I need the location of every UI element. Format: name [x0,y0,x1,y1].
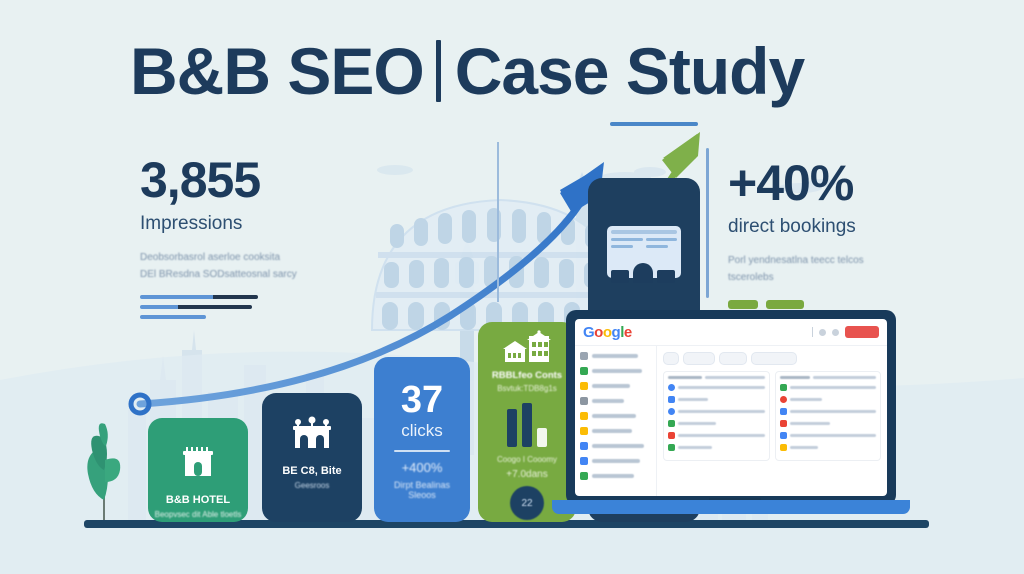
laptop-base [552,500,910,514]
column-subtitle: Beopvsec dit Able tloetls [148,510,248,519]
website-card-icon [607,226,681,278]
title-left: B&B SEO [130,38,424,104]
browser-main [657,346,887,496]
stat-impressions: 3,855 Impressions Deobsorbasrol aserloe … [140,155,297,325]
table-row [780,420,877,427]
impressions-value: 3,855 [140,155,297,205]
browser-body [575,346,887,496]
table-row [668,420,765,427]
title-right: Case Study [455,38,804,104]
laptop-lid: Google [566,310,896,505]
data-panel-right[interactable] [775,371,882,461]
table-row [668,396,765,403]
right-vertical-rule [706,148,709,298]
browser-header-actions [812,326,879,338]
impressions-blurb: Deobsorbasrol aserloe cooksita DEl BResd… [140,249,297,283]
clicks-value: 37 [374,381,470,419]
mini-bar [522,403,532,447]
browser-sidebar[interactable] [575,346,657,496]
sidebar-item [580,442,651,450]
clicks-sub-line2: Sleoos [374,490,470,500]
column-title: B&B HOTEL [148,494,248,506]
column-bnb-hotel[interactable]: B&B HOTEL Beopvsec dit Able tloetls [148,418,248,522]
sidebar-item [580,352,651,360]
clicks-sub-value: +400% [374,460,470,475]
sidebar-item [580,397,651,405]
filter-chip [751,352,797,365]
help-icon[interactable] [832,329,839,336]
bookings-label: direct bookings [728,216,864,238]
accent-pill [728,300,758,309]
mini-bar [537,428,547,447]
progress-bar [140,305,252,309]
bookings-value: +40% [728,158,864,208]
data-panel-left[interactable] [663,371,770,461]
impressions-label: Impressions [140,213,297,235]
table-row [780,444,877,451]
laptop-mockup: Google [566,310,896,528]
table-row [780,384,877,391]
browser-window[interactable]: Google [575,319,887,496]
hotel-building-icon [148,442,248,482]
plant-icon [78,412,130,524]
impressions-blurb-line1: Deobsorbasrol aserloe cooksita [140,249,297,266]
filter-chip [663,352,679,365]
column-google-company[interactable]: RBBLfeo Conts Bsvtuk:TDB8g1s Coogo I Coo… [478,322,576,522]
progress-bar [140,295,258,299]
clicks-sub-line1: Dirpt Bealinas [374,480,470,490]
origin-dot [131,395,149,413]
gear-icon[interactable] [819,329,826,336]
table-row [668,384,765,391]
mini-chart-value: +7.0dans [478,469,576,480]
filter-chip [719,352,747,365]
table-row [780,408,877,415]
infographic-canvas: B&B SEO Case Study 3,855 Impressions Deo… [0,0,1024,574]
panel-header [668,376,765,379]
impressions-progress-bars [140,295,297,319]
page-title: B&B SEO Case Study [130,38,804,104]
column-clicks[interactable]: 37 clicks +400% Dirpt Bealinas Sleoos [374,357,470,522]
panel-header [780,376,877,379]
sidebar-item [580,457,651,465]
bookings-blurb: Porl yendnesatlna teecc telcos tsceroleb… [728,252,864,286]
column-bnb-site[interactable]: BE C8, Bite Geesroos [262,393,362,522]
mini-bar-chart [478,403,576,447]
bookings-blurb-line2: tscerolebs [728,269,864,286]
filter-chips[interactable] [663,352,881,365]
browser-header: Google [575,319,887,346]
sidebar-item [580,427,651,435]
sidebar-item [580,382,651,390]
column-title: RBBLfeo Conts [478,370,576,381]
city-buildings-icon [478,330,576,364]
divider [394,450,450,452]
clicks-label: clicks [374,421,470,441]
mini-chart-label: Coogo I Cooomy [478,455,576,464]
monument-arch-icon [262,415,362,451]
stat-direct-bookings: +40% direct bookings Porl yendnesatlna t… [728,158,864,309]
progress-bar [140,315,206,319]
sidebar-item [580,472,651,480]
accent-pill [766,300,804,309]
column-subtitle: Bsvtuk:TDB8g1s [478,384,576,393]
title-underline [610,122,698,126]
data-panels [663,371,881,461]
table-row [668,444,765,451]
column-title: BE C8, Bite [262,465,362,477]
sidebar-item [580,412,651,420]
mini-bar [507,409,517,447]
title-divider [436,40,441,102]
column-subtitle: Geesroos [262,481,362,490]
table-row [780,432,877,439]
filter-chip [683,352,715,365]
status-badge: 22 [510,486,544,520]
sidebar-item [580,367,651,375]
left-vertical-rule [497,142,499,302]
table-row [668,408,765,415]
table-row [668,432,765,439]
bookings-accent-pills [728,300,864,309]
bookings-blurb-line1: Porl yendnesatlna teecc telcos [728,252,864,269]
impressions-blurb-line2: DEl BResdna SODsatteosnal sarcy [140,266,297,283]
table-row [780,396,877,403]
primary-action-button[interactable] [845,326,879,338]
google-logo: Google [583,324,632,341]
separator [812,327,813,337]
